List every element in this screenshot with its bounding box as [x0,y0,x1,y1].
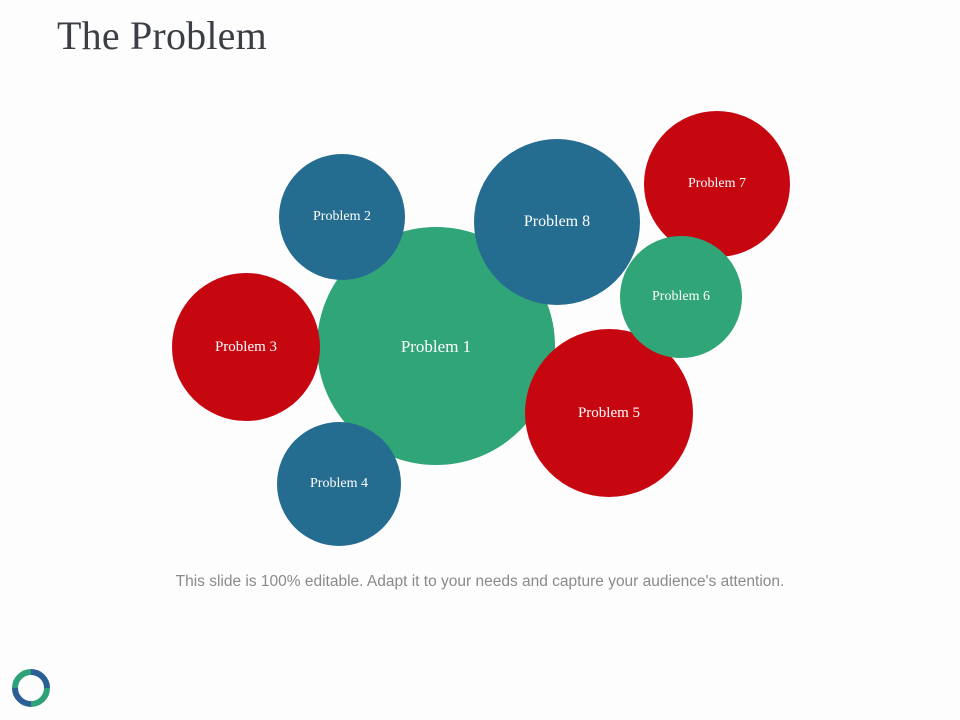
bubble-label-problem-2: Problem 2 [313,210,371,224]
bubble-label-problem-8: Problem 8 [524,214,590,230]
bubble-problem-7[interactable]: Problem 7 [644,111,790,257]
bubble-diagram: Problem 1Problem 2Problem 3Problem 4Prob… [0,80,960,560]
bubble-label-problem-7: Problem 7 [688,177,746,191]
page-title: The Problem [57,12,267,60]
bubble-label-problem-5: Problem 5 [578,406,640,421]
bubble-problem-8[interactable]: Problem 8 [474,139,640,305]
bubble-problem-6[interactable]: Problem 6 [620,236,742,358]
bubble-label-problem-3: Problem 3 [215,340,277,355]
ring-logo-icon [12,669,50,707]
slide-canvas: The Problem Problem 1Problem 2Problem 3P… [0,0,960,720]
slide-footer-note: This slide is 100% editable. Adapt it to… [130,570,830,594]
bubble-problem-3[interactable]: Problem 3 [172,273,320,421]
bubble-problem-2[interactable]: Problem 2 [279,154,405,280]
bubble-label-problem-1: Problem 1 [401,338,471,355]
bubble-label-problem-6: Problem 6 [652,290,710,304]
bubble-problem-4[interactable]: Problem 4 [277,422,401,546]
ring-logo [12,669,50,707]
bubble-label-problem-4: Problem 4 [310,477,368,491]
